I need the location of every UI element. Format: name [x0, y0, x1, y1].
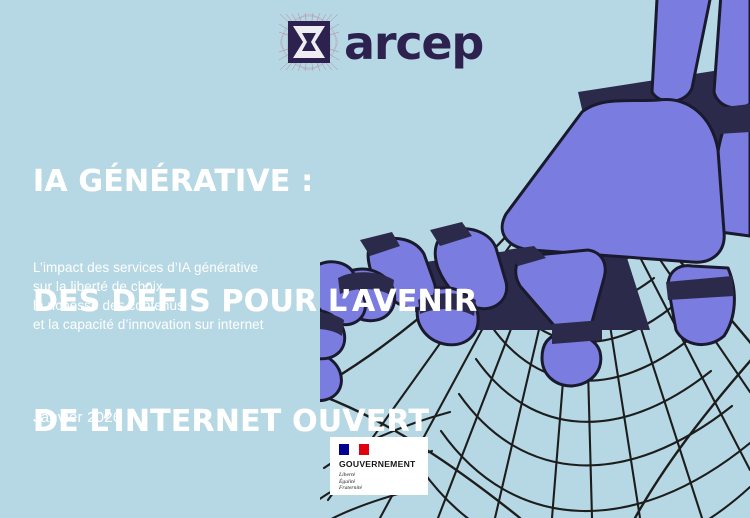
subtitle-line-4: et la capacité d’innovation sur internet — [33, 315, 264, 334]
cover-page: arcep IA GÉNÉRATIVE : DES DÉFIS POUR L’A… — [0, 0, 750, 518]
arcep-logo: arcep — [278, 12, 483, 72]
subtitle-line-1: L’impact des services d’IA générative — [33, 258, 264, 277]
gouvernement-title: GOUVERNEMENT — [339, 459, 416, 469]
motto-egalite: Égalité — [339, 479, 416, 486]
page-subtitle: L’impact des services d’IA générative su… — [33, 258, 264, 334]
arcep-wordmark: arcep — [344, 20, 483, 66]
motto-liberte: Liberté — [339, 472, 416, 479]
gouvernement-logo: GOUVERNEMENT Liberté Égalité Fraternité — [330, 437, 428, 495]
arcep-square-mark-icon — [278, 12, 340, 72]
headline-line-1: IA GÉNÉRATIVE : — [33, 162, 477, 202]
publication-date: Janvier 2026 — [33, 409, 121, 426]
subtitle-line-3: la richesse des contenus — [33, 296, 264, 315]
motto-fraternite: Fraternité — [339, 485, 416, 492]
gouvernement-motto: Liberté Égalité Fraternité — [339, 472, 416, 492]
subtitle-line-2: sur la liberté de choix, — [33, 277, 264, 296]
french-flag-icon — [339, 444, 369, 455]
